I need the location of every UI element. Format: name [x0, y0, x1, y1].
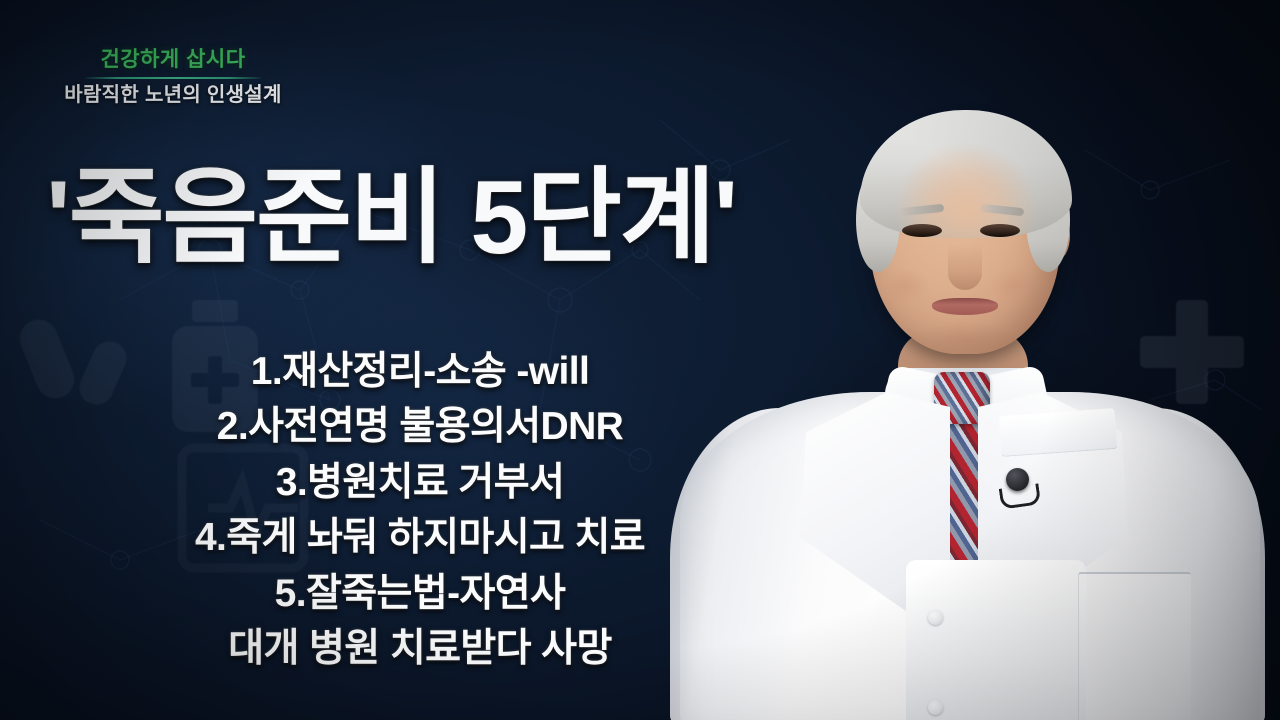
- page-title: '죽음준비 5단계': [46, 160, 786, 276]
- cheek-left: [882, 268, 930, 304]
- program-header: 건강하게 삽시다 바람직한 노년의 인생설계: [38, 48, 308, 107]
- steps-list: 1.재산정리-소송 -will 2.사전연명 불용의서DNR 3.병원치료 거부…: [0, 344, 840, 676]
- mouth: [932, 298, 998, 315]
- coat-button: [928, 700, 943, 715]
- program-subtitle: 바람직한 노년의 인생설계: [38, 83, 308, 107]
- eye-left: [902, 224, 942, 237]
- chin: [912, 322, 1018, 356]
- coat-front-panel: [906, 560, 1086, 720]
- program-slogan: 건강하게 삽시다: [38, 48, 308, 72]
- list-item: 1.재산정리-소송 -will: [0, 344, 840, 399]
- list-item: 3.병원치료 거부서: [0, 455, 840, 510]
- list-item: 대개 병원 치료받다 사망: [0, 621, 840, 676]
- list-item: 2.사전연명 불용의서DNR: [0, 399, 840, 454]
- list-item: 4.죽게 놔둬 하지마시고 치료: [0, 510, 840, 565]
- video-frame: 건강하게 삽시다 바람직한 노년의 인생설계 '죽음준비 5단계' 1.재산정리…: [0, 0, 1280, 720]
- eye-right: [980, 224, 1020, 237]
- hair: [860, 110, 1072, 238]
- header-divider: [85, 77, 261, 79]
- list-item: 5.잘죽는법-자연사: [0, 566, 840, 621]
- coat-button: [928, 610, 943, 625]
- coat-chest-flap: [999, 408, 1118, 457]
- cheek-right: [990, 268, 1038, 304]
- nose: [948, 244, 982, 290]
- coat-pocket: [1078, 572, 1191, 720]
